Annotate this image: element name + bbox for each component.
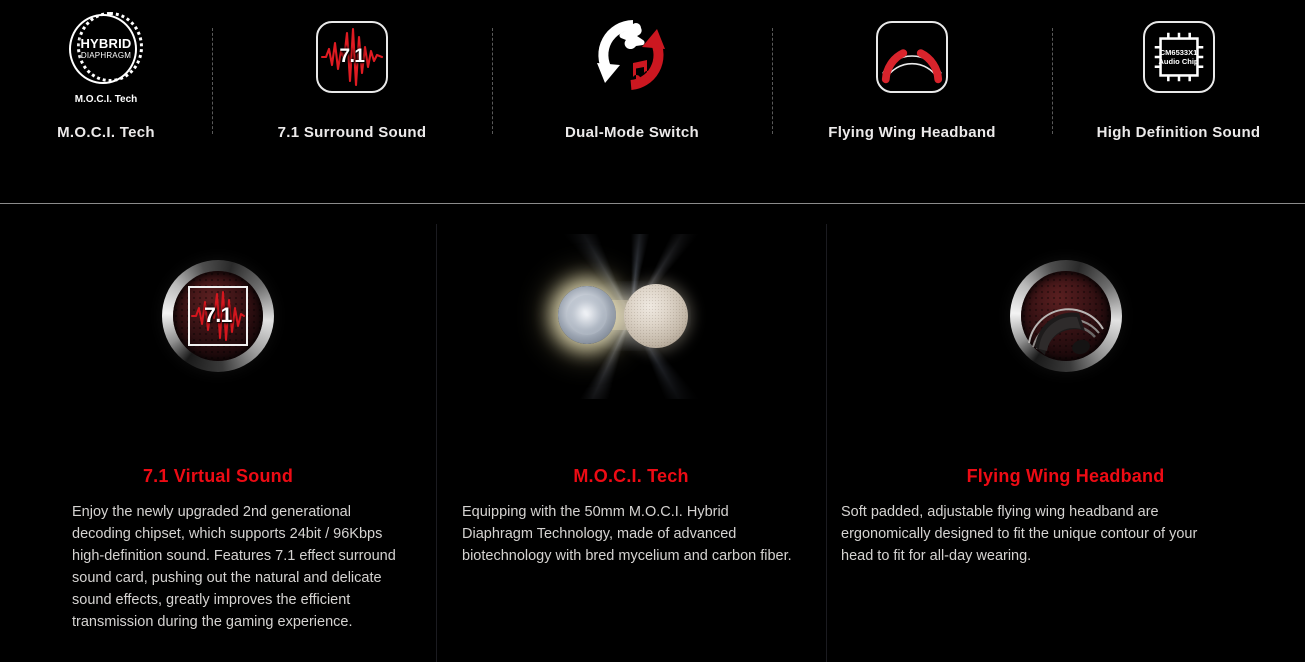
feature-strip: HYBRID DIAPHRAGM M.O.C.I. Tech M.O.C.I. … — [0, 0, 1305, 203]
driver-sphere-icon — [558, 286, 616, 344]
feature-icon-container — [589, 0, 675, 108]
feature-icon-container: CM6533X1 Audio Chip — [1143, 0, 1215, 108]
headband-photo-icon — [1019, 269, 1113, 363]
feature-label: Dual-Mode Switch — [565, 124, 699, 141]
detail-heading: Flying Wing Headband — [826, 466, 1305, 487]
feature-label: Flying Wing Headband — [828, 124, 996, 141]
feature-item-flying-wing-headband[interactable]: Flying Wing Headband — [772, 0, 1052, 203]
waveform-icon-label: 7.1 — [340, 46, 365, 68]
badge-flying-wing-headband — [1010, 260, 1122, 372]
detail-body: Soft padded, adjustable flying wing head… — [826, 501, 1305, 567]
audio-chip-icon: CM6533X1 Audio Chip — [1143, 21, 1215, 93]
flying-wing-headband-icon — [876, 21, 948, 93]
feature-item-high-definition-sound[interactable]: CM6533X1 Audio Chip High Definition Soun… — [1052, 0, 1305, 203]
logo-text-hybrid: HYBRID — [80, 37, 131, 50]
detail-column-moci-tech: M.O.C.I. Tech Equipping with the 50mm M.… — [436, 204, 826, 662]
detail-media-container: 7.1 — [0, 231, 436, 401]
moci-diaphragm-spheres-image — [506, 234, 756, 399]
detail-column-flying-wing-headband: Flying Wing Headband Soft padded, adjust… — [826, 204, 1305, 662]
dual-mode-switch-icon — [589, 15, 675, 100]
detail-heading: 7.1 Virtual Sound — [0, 466, 436, 487]
detail-column-71-virtual-sound: 7.1 7.1 Virtual Sound Enjoy the newly up… — [0, 204, 436, 662]
logo-text-diaphragm: DIAPHRAGM — [81, 52, 131, 60]
feature-icon-container: HYBRID DIAPHRAGM M.O.C.I. Tech — [67, 0, 145, 108]
waveform-71-icon: 7.1 — [316, 21, 388, 93]
feature-item-dual-mode-switch[interactable]: Dual-Mode Switch — [492, 0, 772, 203]
detail-heading: M.O.C.I. Tech — [436, 466, 826, 487]
feature-icon-container — [876, 0, 948, 108]
detail-media-container — [436, 231, 826, 401]
feature-label: 7.1 Surround Sound — [278, 124, 427, 141]
dual-mode-switch-svg — [589, 15, 675, 95]
chip-label-line1: CM6533X1 — [1145, 48, 1213, 57]
logo-caption: M.O.C.I. Tech — [75, 94, 138, 105]
chip-label: CM6533X1 Audio Chip — [1145, 48, 1213, 67]
feature-label: M.O.C.I. Tech — [57, 124, 155, 141]
feature-item-71-surround-sound[interactable]: 7.1 7.1 Surround Sound — [212, 0, 492, 203]
mycelium-sphere-icon — [624, 284, 688, 348]
detail-body: Equipping with the 50mm M.O.C.I. Hybrid … — [436, 501, 826, 567]
detail-body: Enjoy the newly upgraded 2nd generationa… — [0, 501, 436, 633]
feature-icon-container: 7.1 — [316, 0, 388, 108]
badge-waveform-frame: 7.1 — [188, 286, 248, 346]
detail-media-container — [826, 231, 1305, 401]
badge-71-virtual-sound: 7.1 — [162, 260, 274, 372]
chip-label-line2: Audio Chip — [1145, 57, 1213, 66]
headband-svg — [878, 22, 946, 92]
feature-label: High Definition Sound — [1097, 124, 1261, 141]
detail-section: 7.1 7.1 Virtual Sound Enjoy the newly up… — [0, 204, 1305, 662]
feature-item-moci-tech[interactable]: HYBRID DIAPHRAGM M.O.C.I. Tech M.O.C.I. … — [0, 0, 212, 203]
hybrid-diaphragm-logo-icon: HYBRID DIAPHRAGM — [67, 10, 145, 88]
badge-waveform-label: 7.1 — [204, 304, 232, 328]
